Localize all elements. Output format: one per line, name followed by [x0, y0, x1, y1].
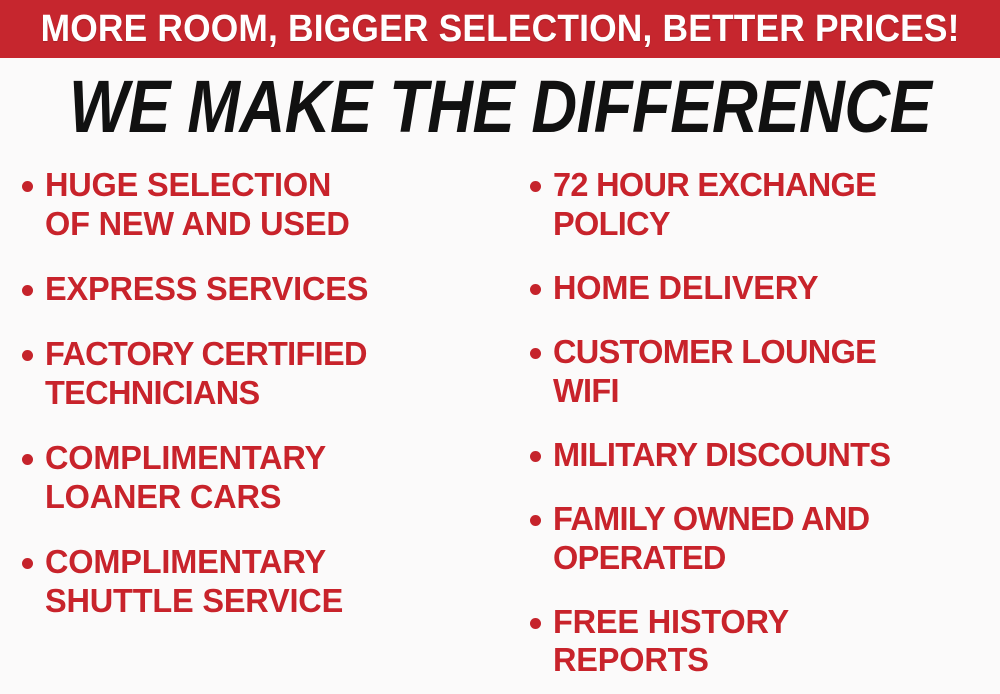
bullet-dot-icon — [22, 285, 33, 296]
list-item: MILITARY DISCOUNTS — [530, 436, 1000, 475]
list-item-label: FACTORY CERTIFIED TECHNICIANS — [45, 335, 367, 413]
bullet-dot-icon — [530, 181, 541, 192]
list-item: COMPLIMENTARY SHUTTLE SERVICE — [22, 543, 508, 621]
benefits-columns: HUGE SELECTION OF NEW AND USED EXPRESS S… — [0, 156, 1000, 694]
bullet-dot-icon — [530, 284, 541, 295]
list-item-label: COMPLIMENTARY SHUTTLE SERVICE — [45, 543, 343, 621]
bullet-dot-icon — [22, 350, 33, 361]
list-item-label: FAMILY OWNED AND OPERATED — [553, 500, 869, 578]
list-item-label: CUSTOMER LOUNGE WIFI — [553, 333, 876, 411]
list-item-label: HUGE SELECTION OF NEW AND USED — [45, 166, 350, 244]
bullet-dot-icon — [22, 558, 33, 569]
list-item: FREE HISTORY REPORTS — [530, 603, 1000, 681]
list-item-label: COMPLIMENTARY LOANER CARS — [45, 439, 326, 517]
list-item: EXPRESS SERVICES — [22, 270, 508, 309]
benefits-column-left: HUGE SELECTION OF NEW AND USED EXPRESS S… — [0, 156, 508, 694]
banner-headline-text: MORE ROOM, BIGGER SELECTION, BETTER PRIC… — [40, 10, 959, 48]
promo-poster: MORE ROOM, BIGGER SELECTION, BETTER PRIC… — [0, 0, 1000, 694]
benefits-column-right: 72 HOUR EXCHANGE POLICY HOME DELIVERY CU… — [508, 156, 1000, 694]
headline-area: WE MAKE THE DIFFERENCE — [0, 62, 1000, 150]
list-item: FACTORY CERTIFIED TECHNICIANS — [22, 335, 508, 413]
bullet-dot-icon — [530, 515, 541, 526]
list-item-label: HOME DELIVERY — [553, 269, 818, 308]
list-item: HUGE SELECTION OF NEW AND USED — [22, 166, 508, 244]
top-banner: MORE ROOM, BIGGER SELECTION, BETTER PRIC… — [0, 0, 1000, 58]
main-headline: WE MAKE THE DIFFERENCE — [69, 69, 931, 143]
bullet-dot-icon — [530, 348, 541, 359]
list-item-label: 72 HOUR EXCHANGE POLICY — [553, 166, 876, 244]
bullet-dot-icon — [530, 618, 541, 629]
list-item-label: MILITARY DISCOUNTS — [553, 436, 890, 475]
bullet-dot-icon — [530, 451, 541, 462]
list-item: COMPLIMENTARY LOANER CARS — [22, 439, 508, 517]
list-item: FAMILY OWNED AND OPERATED — [530, 500, 1000, 578]
bullet-dot-icon — [22, 181, 33, 192]
list-item: 72 HOUR EXCHANGE POLICY — [530, 166, 1000, 244]
list-item-label: EXPRESS SERVICES — [45, 270, 368, 309]
list-item-label: FREE HISTORY REPORTS — [553, 603, 789, 681]
bullet-dot-icon — [22, 454, 33, 465]
list-item: HOME DELIVERY — [530, 269, 1000, 308]
list-item: CUSTOMER LOUNGE WIFI — [530, 333, 1000, 411]
